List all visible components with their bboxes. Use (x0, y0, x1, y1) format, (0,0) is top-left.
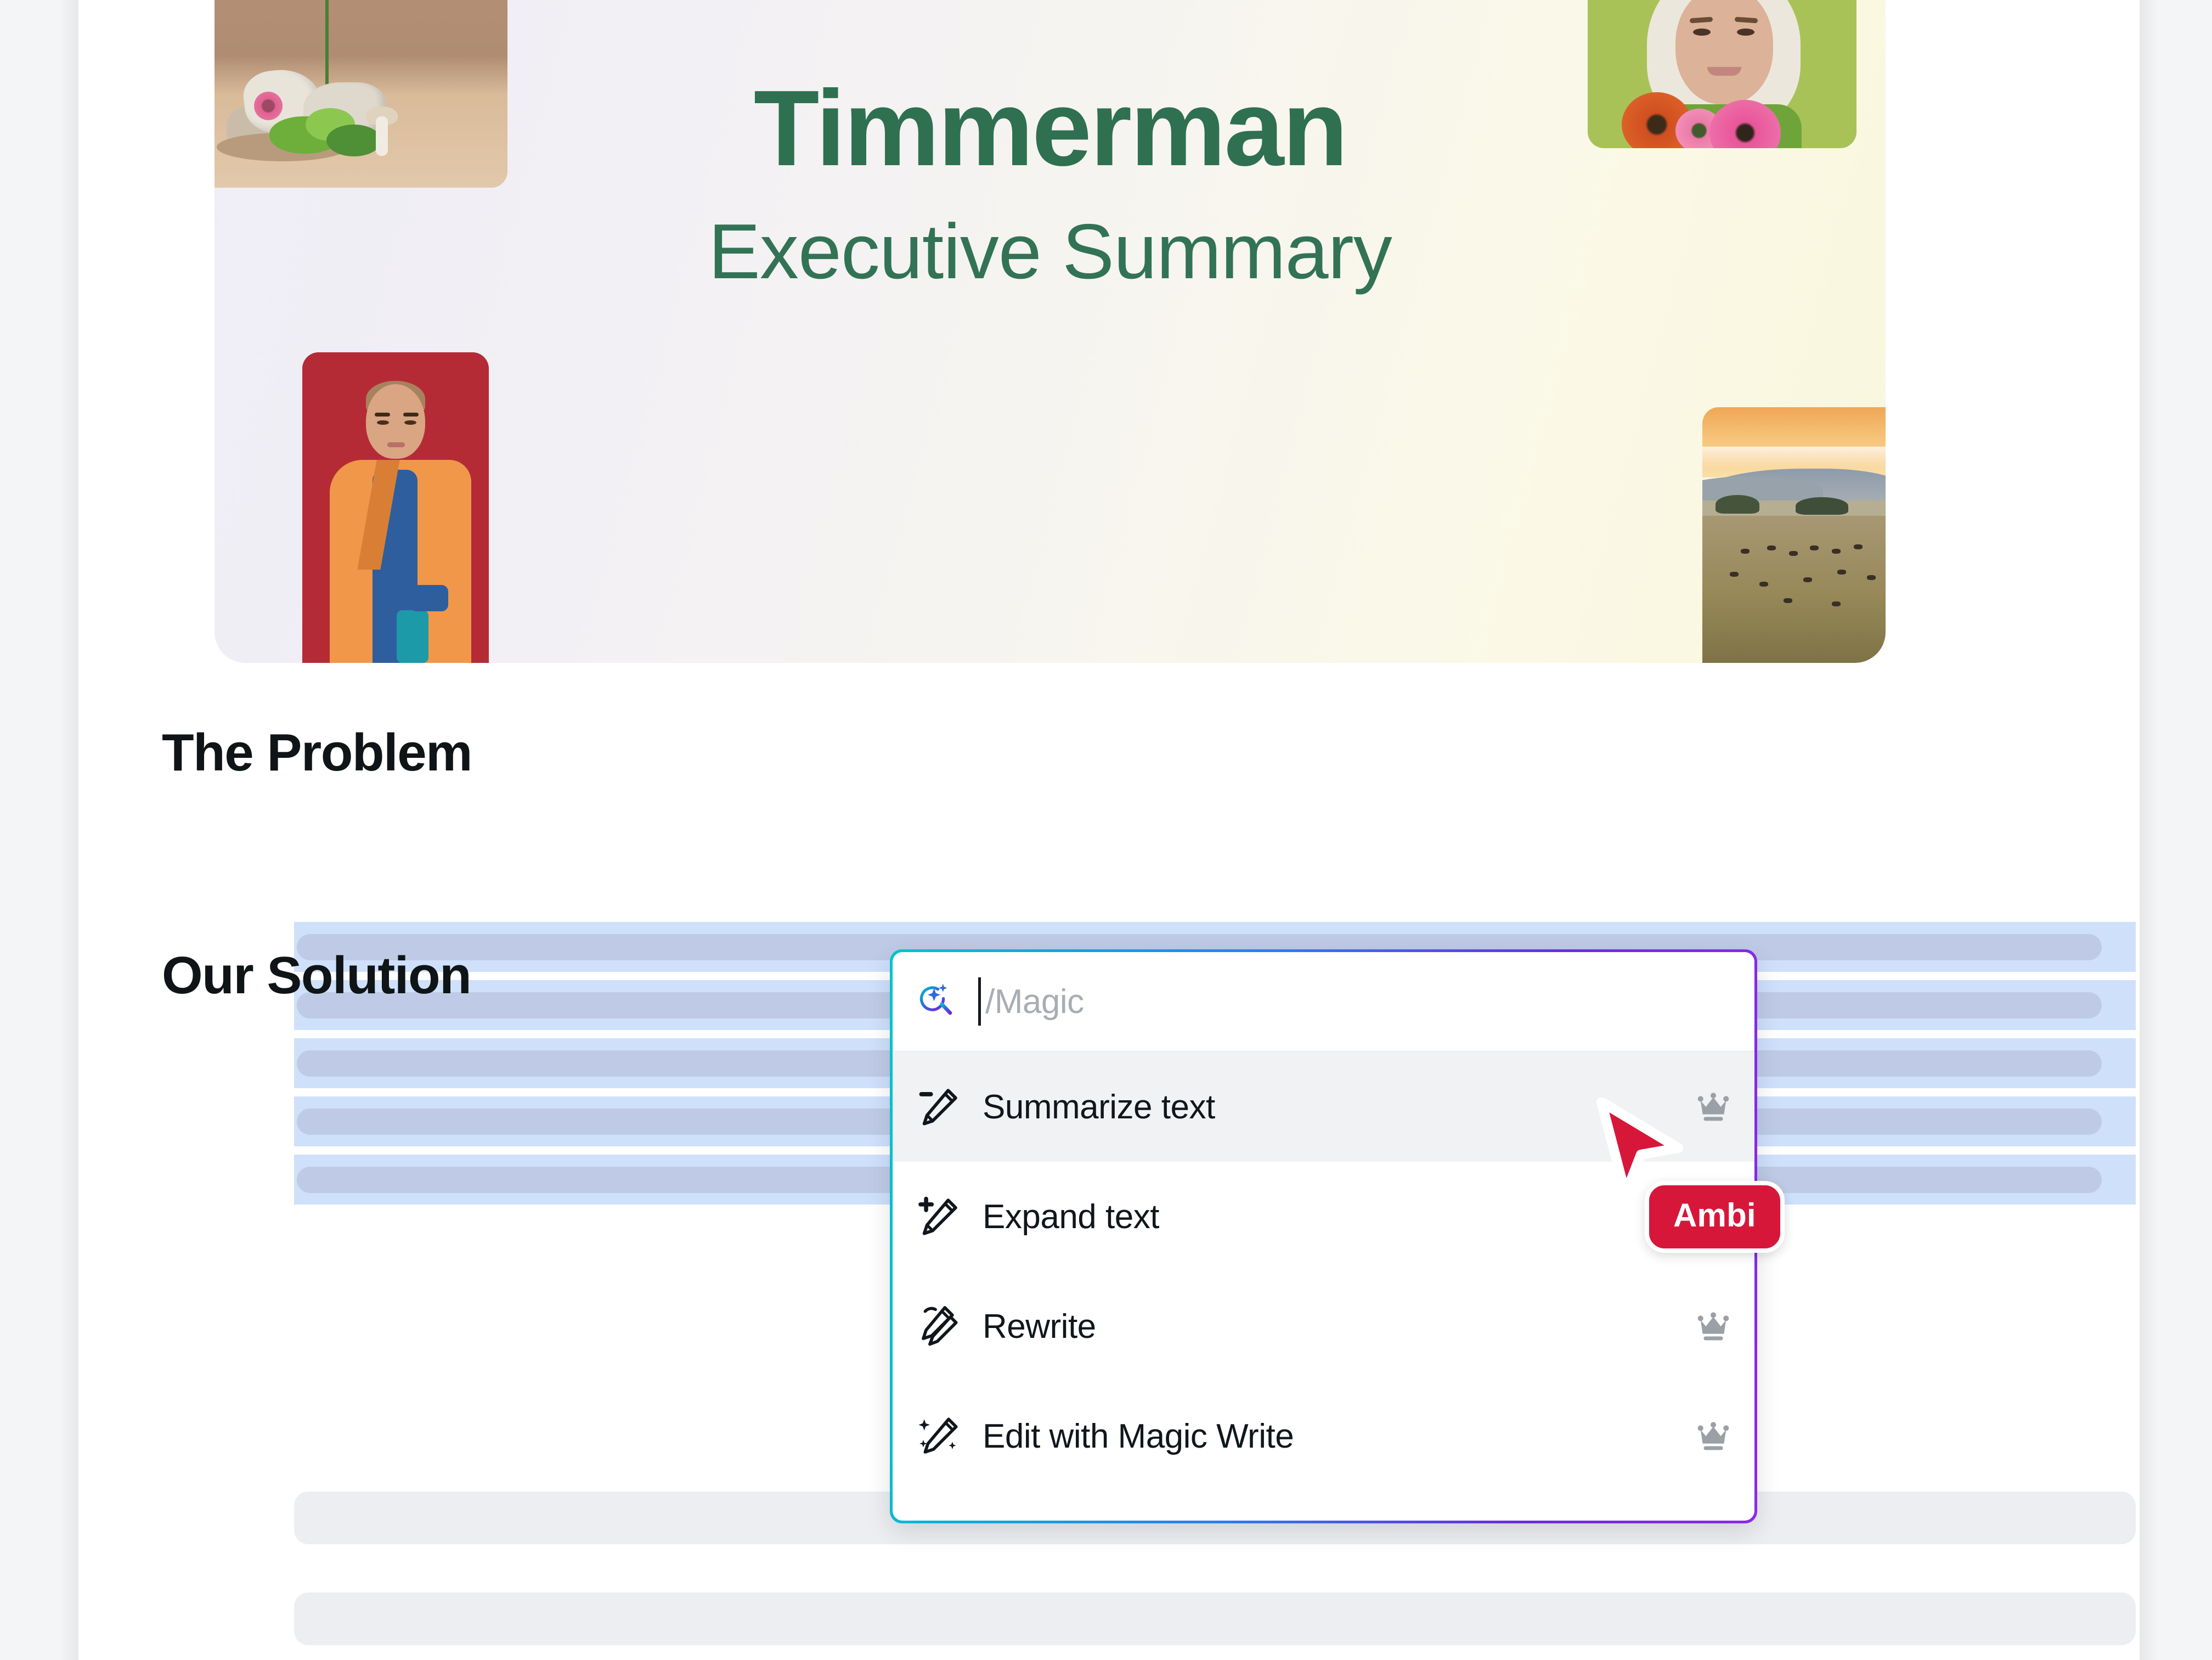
document-page: Timmerman Executive Summary (78, 0, 2140, 1660)
menu-item-edit-with-magic-write[interactable]: Edit with Magic Write (893, 1381, 1754, 1491)
magic-search-row[interactable]: /Magic (893, 952, 1754, 1052)
text-placeholder-line (294, 1593, 2136, 1645)
pencil-plus-icon (917, 1194, 962, 1239)
section-heading-the-problem: The Problem (162, 727, 472, 779)
menu-item-label: Expand text (983, 1197, 1159, 1236)
magic-search-icon (917, 981, 957, 1022)
menu-item-summarize-text[interactable]: Summarize text (893, 1052, 1754, 1162)
section-heading-our-solution: Our Solution (162, 949, 471, 1002)
hero-subtitle: Executive Summary (215, 213, 1886, 291)
magic-search-input[interactable]: /Magic (985, 982, 1084, 1021)
pencil-minus-icon (917, 1084, 962, 1129)
hero-title: Timmerman (215, 75, 1886, 182)
crown-premium-icon (1696, 1091, 1730, 1122)
hero-photo-person-in-orange-blazer (302, 352, 489, 663)
menu-item-label: Summarize text (983, 1088, 1215, 1127)
menu-item-rewrite[interactable]: Rewrite (893, 1271, 1754, 1381)
pencil-rewrite-icon (917, 1304, 962, 1349)
crown-premium-icon (1696, 1421, 1730, 1451)
menu-item-label: Rewrite (983, 1307, 1096, 1346)
hero-banner: Timmerman Executive Summary (215, 0, 1886, 663)
menu-item-expand-text[interactable]: Expand text (893, 1162, 1754, 1271)
pencil-sparkle-icon (917, 1414, 962, 1459)
magic-command-menu[interactable]: /Magic Summarize text (890, 949, 1757, 1523)
collaborator-name-label: Ambi (1645, 1181, 1785, 1253)
menu-item-label: Edit with Magic Write (983, 1417, 1294, 1456)
hero-photo-savanna-sunset-landscape (1702, 407, 1886, 663)
text-caret (978, 977, 981, 1026)
crown-premium-icon (1696, 1311, 1730, 1342)
